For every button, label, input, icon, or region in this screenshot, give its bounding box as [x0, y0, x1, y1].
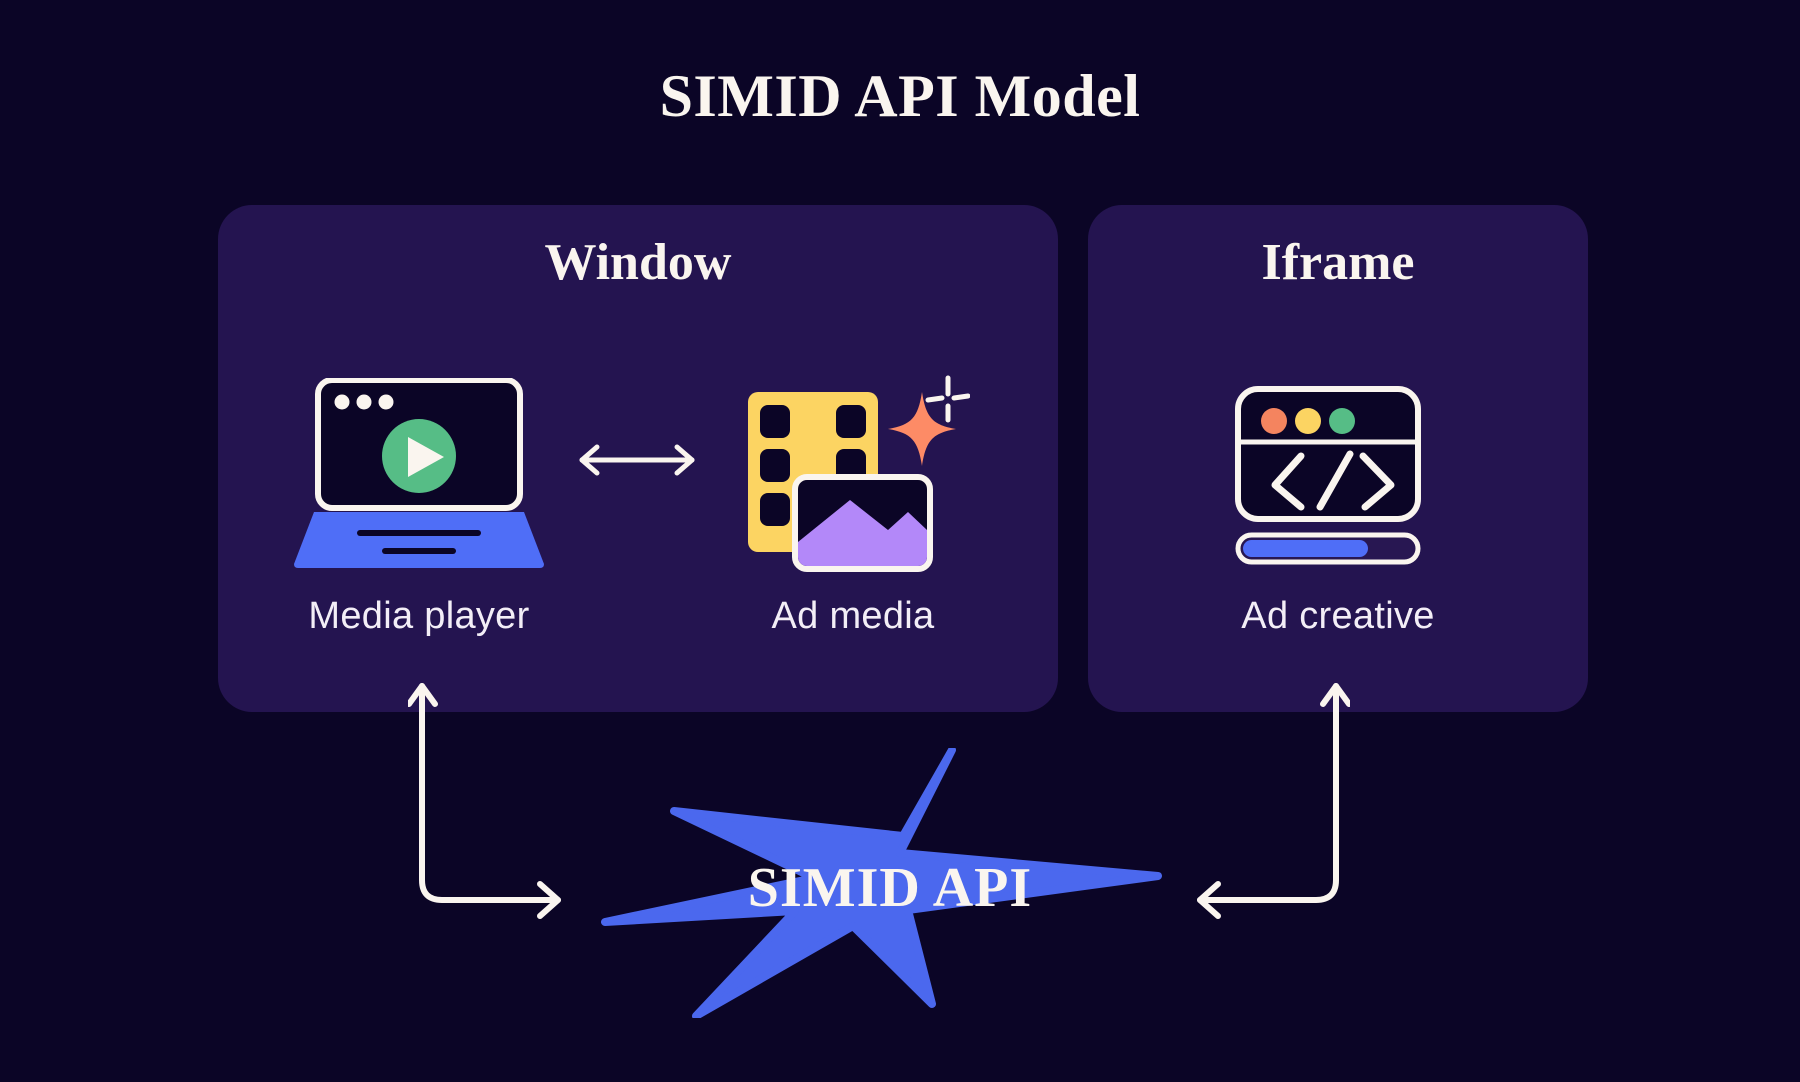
code-browser-window-icon — [1233, 385, 1423, 570]
simid-api-hub: SIMID API — [600, 748, 1180, 1018]
connector-iframe-to-api — [1190, 672, 1350, 927]
double-headed-horizontal-arrow-icon — [572, 440, 702, 485]
connector-window-to-api — [408, 672, 568, 927]
simid-api-label: SIMID API — [600, 856, 1180, 920]
caption-ad-media: Ad media — [718, 595, 988, 638]
caption-ad-creative: Ad creative — [1213, 595, 1463, 638]
film-strip-image-icon — [740, 372, 970, 572]
panel-window-title: Window — [218, 233, 1058, 292]
diagram-canvas: SIMID API Model Window Media player — [0, 0, 1800, 1082]
caption-media-player: Media player — [294, 595, 544, 638]
laptop-media-player-icon — [294, 378, 544, 568]
page-title: SIMID API Model — [0, 62, 1800, 131]
panel-iframe-title: Iframe — [1088, 233, 1588, 292]
